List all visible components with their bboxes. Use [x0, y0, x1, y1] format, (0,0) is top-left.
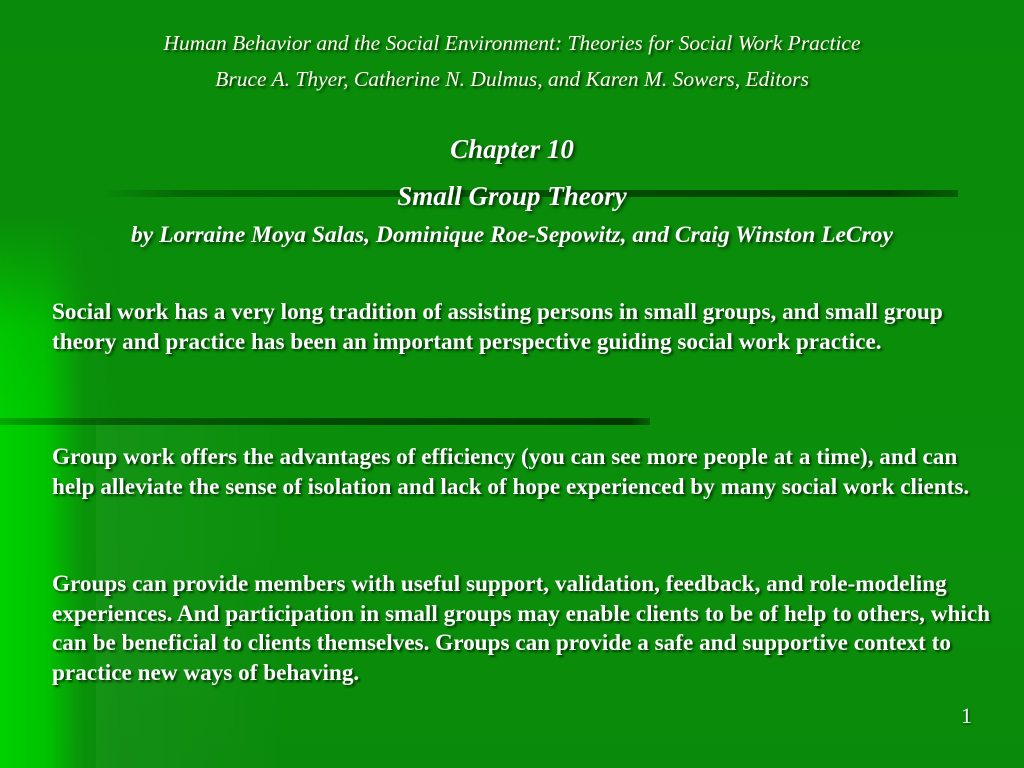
- slide-body: Social work has a very long tradition of…: [0, 0, 1024, 768]
- body-paragraph-3: Groups can provide members with useful s…: [52, 570, 1004, 688]
- presentation-slide: Human Behavior and the Social Environmen…: [0, 0, 1024, 768]
- body-paragraph-1: Social work has a very long tradition of…: [52, 298, 1004, 357]
- body-paragraph-2: Group work offers the advantages of effi…: [52, 443, 1004, 502]
- slide-number: 1: [961, 703, 972, 729]
